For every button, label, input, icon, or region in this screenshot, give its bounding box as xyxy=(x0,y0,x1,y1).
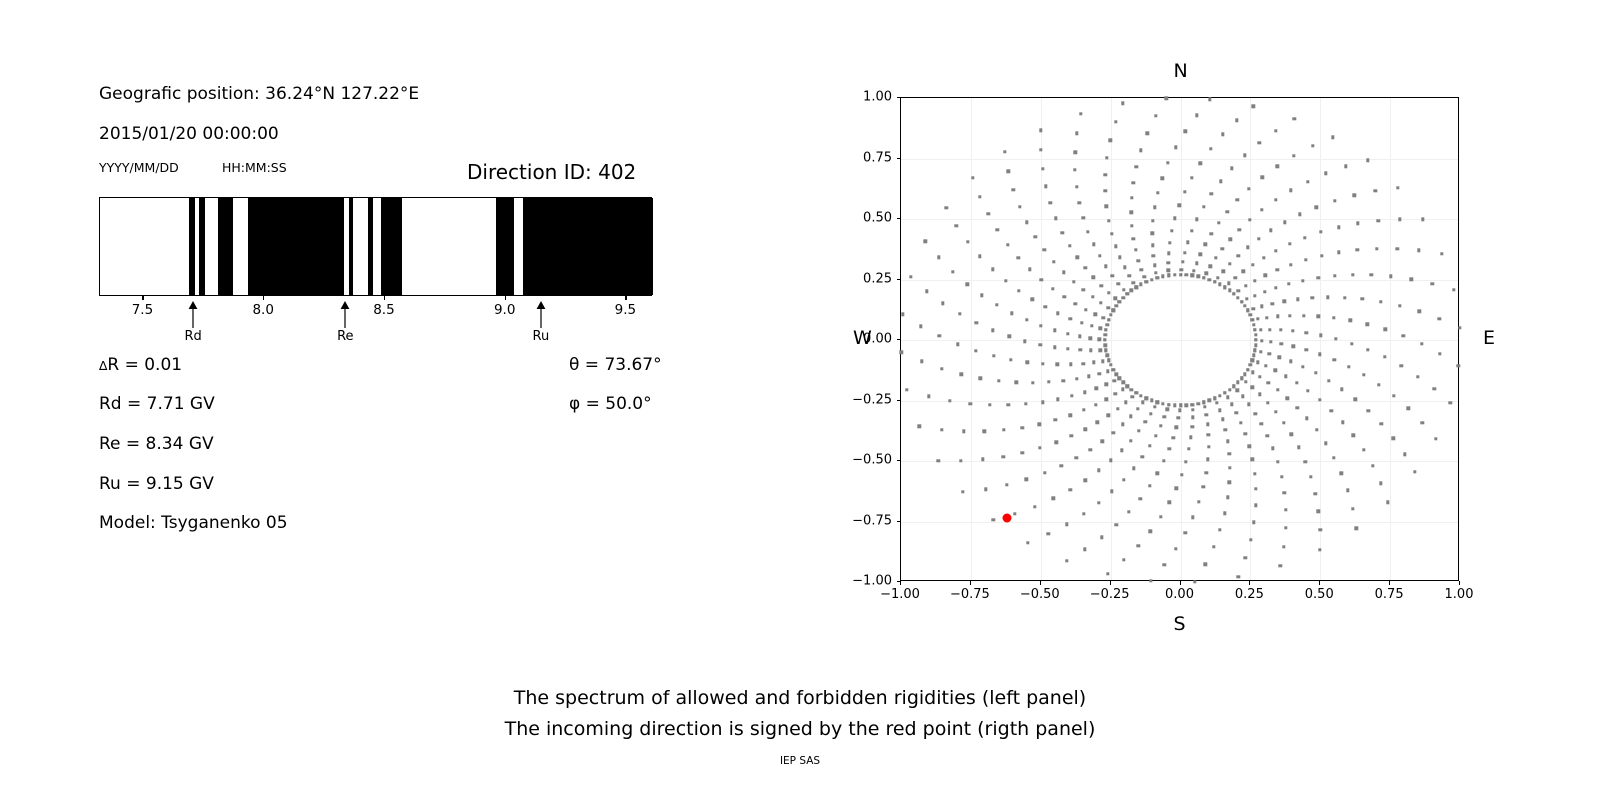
direction-point xyxy=(1163,415,1166,418)
direction-point xyxy=(1153,263,1156,266)
x-axis-tick-label: −0.50 xyxy=(1020,587,1060,602)
direction-point xyxy=(1303,236,1306,239)
direction-point xyxy=(1101,439,1104,442)
direction-point xyxy=(1156,191,1159,194)
direction-point xyxy=(983,430,986,433)
direction-point xyxy=(992,518,995,521)
gridline-horizontal xyxy=(901,461,1458,462)
direction-point xyxy=(1290,433,1293,436)
direction-point xyxy=(1043,248,1046,251)
direction-point xyxy=(1151,219,1154,222)
direction-point xyxy=(1254,333,1257,336)
direction-point xyxy=(1170,229,1173,232)
direction-point xyxy=(1306,389,1309,392)
direction-point xyxy=(1184,460,1187,463)
direction-point xyxy=(1120,449,1123,452)
direction-point xyxy=(1203,405,1206,408)
direction-point xyxy=(1056,312,1059,315)
direction-point xyxy=(1288,314,1291,317)
direction-point xyxy=(1038,343,1041,346)
direction-point xyxy=(1251,318,1254,321)
direction-point xyxy=(1355,248,1358,251)
date-format-hint: YYYY/MM/DD xyxy=(99,160,179,175)
direction-point xyxy=(1434,437,1437,440)
direction-point xyxy=(1240,300,1243,303)
direction-point xyxy=(1330,409,1333,412)
direction-point xyxy=(1144,420,1147,423)
direction-point xyxy=(971,176,974,179)
direction-point xyxy=(1167,269,1170,272)
direction-point xyxy=(1130,388,1133,391)
axis-tick-label: 8.5 xyxy=(373,302,394,318)
direction-point xyxy=(1040,278,1043,281)
direction-point xyxy=(1025,318,1028,321)
direction-point xyxy=(1104,343,1107,346)
direction-point xyxy=(1191,274,1194,277)
gridline-vertical xyxy=(1111,98,1112,580)
forbidden-band xyxy=(248,198,344,295)
direction-point xyxy=(1149,579,1152,582)
direction-point xyxy=(1179,404,1182,407)
direction-point xyxy=(1292,154,1295,157)
direction-point xyxy=(1082,288,1085,291)
direction-point xyxy=(1134,248,1137,251)
sky-direction-panel: −1.00−0.75−0.50−0.250.000.250.500.751.00… xyxy=(840,50,1540,650)
direction-point xyxy=(1304,258,1307,261)
forbidden-band xyxy=(523,198,653,295)
direction-point xyxy=(1207,433,1210,436)
direction-point xyxy=(1008,335,1011,338)
direction-point xyxy=(1191,403,1194,406)
direction-point xyxy=(1025,478,1028,481)
direction-point xyxy=(1239,421,1242,424)
direction-point xyxy=(1110,232,1113,235)
direction-point xyxy=(1124,400,1127,403)
direction-point xyxy=(1125,384,1128,387)
direction-point xyxy=(1226,396,1229,399)
direction-point xyxy=(1349,319,1352,322)
direction-point xyxy=(1066,347,1069,350)
direction-point xyxy=(1218,528,1221,531)
direction-point xyxy=(1099,327,1102,330)
direction-point xyxy=(1208,98,1211,101)
direction-point xyxy=(1191,416,1194,419)
direction-point xyxy=(1314,371,1317,374)
direction-point xyxy=(1392,394,1395,397)
axis-tick xyxy=(505,296,506,300)
direction-point xyxy=(1007,403,1010,406)
direction-point xyxy=(1292,345,1295,348)
direction-point xyxy=(1109,139,1112,142)
direction-point xyxy=(1179,268,1182,271)
direction-point xyxy=(1398,217,1401,220)
direction-point xyxy=(1418,310,1421,313)
direction-point xyxy=(1209,265,1212,268)
direction-point xyxy=(1113,379,1116,382)
direction-point xyxy=(1377,383,1380,386)
marker-rd: Rd xyxy=(163,300,223,344)
delta-r-text: R = 0.01 xyxy=(107,355,182,375)
direction-point xyxy=(1276,165,1279,168)
direction-point xyxy=(1351,273,1354,276)
direction-point xyxy=(1243,154,1246,157)
direction-point xyxy=(1107,318,1110,321)
direction-point xyxy=(1333,274,1336,277)
direction-point xyxy=(1241,270,1244,273)
direction-point xyxy=(1118,377,1121,380)
direction-point xyxy=(1261,176,1264,179)
direction-point xyxy=(1218,394,1221,397)
gridline-horizontal xyxy=(901,340,1458,341)
direction-point xyxy=(1212,545,1215,548)
direction-point xyxy=(1146,131,1149,134)
y-axis-tick-label: 0.75 xyxy=(848,150,892,165)
direction-point xyxy=(1246,246,1249,249)
direction-point xyxy=(1410,278,1413,281)
direction-point xyxy=(920,360,923,363)
direction-point xyxy=(1044,185,1047,188)
direction-point xyxy=(927,395,930,398)
direction-point xyxy=(1090,324,1093,327)
direction-point xyxy=(1107,306,1110,309)
rd-value: Rd = 7.71 GV xyxy=(99,394,215,414)
direction-point xyxy=(1280,342,1283,345)
direction-point xyxy=(1367,409,1370,412)
direction-point xyxy=(1361,297,1364,300)
direction-point xyxy=(1221,418,1224,421)
x-axis-tick xyxy=(1459,581,1460,585)
direction-point xyxy=(1131,395,1134,398)
direction-point xyxy=(1433,387,1436,390)
direction-point xyxy=(1222,270,1225,273)
direction-point xyxy=(941,302,944,305)
direction-point xyxy=(1204,562,1207,565)
forbidden-band xyxy=(218,198,233,295)
direction-point xyxy=(1066,332,1069,335)
direction-point xyxy=(1195,218,1198,221)
direction-point xyxy=(1259,350,1262,353)
direction-point xyxy=(1241,395,1244,398)
direction-point xyxy=(1149,412,1152,415)
direction-point xyxy=(1096,421,1099,424)
direction-point xyxy=(1092,243,1095,246)
direction-point xyxy=(1259,328,1262,331)
direction-point xyxy=(1213,280,1216,283)
direction-point xyxy=(1104,397,1107,400)
direction-point xyxy=(1150,278,1153,281)
direction-point xyxy=(1235,118,1238,121)
direction-point xyxy=(1054,418,1057,421)
direction-point xyxy=(1112,368,1115,371)
direction-point xyxy=(1249,363,1252,366)
direction-point xyxy=(1140,268,1143,271)
x-axis-tick xyxy=(900,581,901,585)
direction-point xyxy=(1167,447,1170,450)
direction-point xyxy=(1017,256,1020,259)
direction-point xyxy=(1104,328,1107,331)
direction-point xyxy=(979,377,982,380)
direction-point xyxy=(1145,397,1148,400)
direction-point xyxy=(900,351,903,354)
direction-point xyxy=(1105,383,1108,386)
direction-point xyxy=(1153,205,1156,208)
direction-point xyxy=(1449,401,1452,404)
direction-point xyxy=(1253,349,1256,352)
direction-point xyxy=(1251,358,1254,361)
direction-point xyxy=(1167,261,1170,264)
direction-point xyxy=(1075,185,1078,188)
direction-point xyxy=(1139,283,1142,286)
direction-point xyxy=(1251,371,1254,374)
direction-point xyxy=(1047,380,1050,383)
direction-point xyxy=(1196,402,1199,405)
forbidden-band xyxy=(496,198,514,295)
direction-point xyxy=(1137,259,1140,262)
direction-point xyxy=(1209,147,1212,150)
direction-point xyxy=(1125,292,1128,295)
direction-point xyxy=(1236,388,1239,391)
direction-point xyxy=(1102,316,1105,319)
direction-point xyxy=(1100,284,1103,287)
marker-ru: Ru xyxy=(511,300,571,344)
direction-point xyxy=(1103,338,1106,341)
direction-point xyxy=(1007,170,1010,173)
direction-point xyxy=(1075,132,1078,135)
direction-point xyxy=(1244,432,1247,435)
direction-point xyxy=(1258,393,1261,396)
direction-point xyxy=(966,240,969,243)
y-axis-tick-label: −0.25 xyxy=(848,392,892,407)
direction-point xyxy=(1018,205,1021,208)
direction-point xyxy=(1280,475,1283,478)
direction-point xyxy=(1251,307,1254,310)
direction-point xyxy=(1161,402,1164,405)
direction-point xyxy=(1041,167,1044,170)
direction-point xyxy=(1317,276,1320,279)
direction-point xyxy=(1256,361,1259,364)
direction-point xyxy=(1320,254,1323,257)
marker-re: Re xyxy=(315,300,375,344)
direction-point xyxy=(1152,254,1155,257)
direction-point xyxy=(1370,273,1373,276)
x-axis-tick-label: 0.75 xyxy=(1375,587,1404,602)
direction-point xyxy=(1205,272,1208,275)
direction-point xyxy=(1243,304,1246,307)
direction-point xyxy=(1061,231,1064,234)
direction-point xyxy=(1351,507,1354,510)
direction-point xyxy=(1044,305,1047,308)
rigidity-spectrum-bar xyxy=(99,197,652,296)
direction-point xyxy=(1141,401,1144,404)
direction-point xyxy=(1079,348,1082,351)
direction-point xyxy=(1246,309,1249,312)
direction-point xyxy=(1100,536,1103,539)
direction-point xyxy=(1121,296,1124,299)
direction-point xyxy=(962,430,965,433)
y-axis-tick-label: −0.50 xyxy=(848,453,892,468)
spectrum-bar-container xyxy=(99,197,652,296)
direction-point xyxy=(1318,353,1321,356)
datetime-label: 2015/01/20 00:00:00 xyxy=(99,124,279,144)
direction-point xyxy=(1163,563,1166,566)
marker-label: Rd xyxy=(163,329,223,344)
direction-point xyxy=(1337,251,1340,254)
direction-point xyxy=(1065,559,1068,562)
direction-point xyxy=(1183,190,1186,193)
direction-point xyxy=(940,367,943,370)
direction-point xyxy=(1236,296,1239,299)
direction-point xyxy=(1084,308,1087,311)
direction-point xyxy=(1195,261,1198,264)
direction-point xyxy=(1248,218,1251,221)
direction-point xyxy=(1116,407,1119,410)
direction-point xyxy=(1098,349,1101,352)
direction-point xyxy=(965,283,968,286)
y-axis-tick xyxy=(897,460,901,461)
direction-point xyxy=(1110,490,1113,493)
direction-point xyxy=(1053,346,1056,349)
direction-point xyxy=(1121,422,1124,425)
direction-point xyxy=(1075,456,1078,459)
direction-point xyxy=(1069,363,1072,366)
y-axis-tick xyxy=(897,339,901,340)
direction-point xyxy=(1366,348,1369,351)
direction-point xyxy=(1374,189,1377,192)
direction-point xyxy=(1159,515,1162,518)
direction-point xyxy=(1289,189,1292,192)
forbidden-band xyxy=(368,198,373,295)
direction-point xyxy=(1183,251,1186,254)
x-axis-tick xyxy=(1110,581,1111,585)
direction-point xyxy=(1276,388,1279,391)
direction-point xyxy=(1139,148,1142,151)
direction-point xyxy=(1174,547,1177,550)
direction-point xyxy=(1137,544,1140,547)
gridline-horizontal xyxy=(901,219,1458,220)
theta-value: θ = 73.67° xyxy=(569,355,662,375)
x-axis-tick-label: −0.25 xyxy=(1090,587,1130,602)
time-format-hint: HH:MM:SS xyxy=(222,160,287,175)
marker-label: Re xyxy=(315,329,375,344)
direction-point xyxy=(1122,478,1125,481)
y-axis-tick xyxy=(897,521,901,522)
direction-point xyxy=(1224,428,1227,431)
direction-point xyxy=(1227,282,1230,285)
direction-point xyxy=(1173,403,1176,406)
direction-point xyxy=(1293,117,1296,120)
direction-point xyxy=(1028,268,1031,271)
rigidity-spectrum-panel: Geografic position: 36.24°N 127.22°E 201… xyxy=(0,0,760,680)
direction-point xyxy=(1104,189,1107,192)
direction-point xyxy=(1025,361,1028,364)
direction-point xyxy=(1168,241,1171,244)
direction-point xyxy=(1107,219,1110,222)
direction-point xyxy=(1201,485,1204,488)
direction-point xyxy=(1319,334,1322,337)
direction-point xyxy=(1421,421,1424,424)
direction-point xyxy=(995,303,998,306)
gridline-horizontal xyxy=(901,280,1458,281)
direction-point xyxy=(1383,328,1386,331)
direction-point xyxy=(1005,483,1008,486)
compass-label-west: W xyxy=(853,327,872,349)
direction-point xyxy=(1039,129,1042,132)
direction-point xyxy=(1265,316,1268,319)
direction-point xyxy=(1274,249,1277,252)
direction-point xyxy=(1174,145,1177,148)
x-axis-tick-label: −0.75 xyxy=(950,587,990,602)
axis-tick-label: 8.0 xyxy=(252,302,273,318)
direction-point xyxy=(1068,244,1071,247)
direction-point xyxy=(1210,232,1213,235)
phi-value: φ = 50.0° xyxy=(569,394,652,414)
direction-point xyxy=(1164,97,1167,100)
direction-point xyxy=(1302,314,1305,317)
direction-point xyxy=(1180,473,1183,476)
direction-point xyxy=(1185,273,1188,276)
direction-point xyxy=(1301,365,1304,368)
direction-point xyxy=(1237,575,1240,578)
direction-point xyxy=(1134,285,1137,288)
direction-point xyxy=(1098,254,1101,257)
direction-point xyxy=(1266,401,1269,404)
axis-tick xyxy=(142,296,143,300)
direction-point xyxy=(1118,300,1121,303)
direction-point xyxy=(1252,354,1255,357)
direction-point xyxy=(1065,522,1068,525)
direction-point xyxy=(1175,487,1178,490)
direction-point xyxy=(1396,247,1399,250)
x-axis-tick xyxy=(1319,581,1320,585)
x-axis-tick-label: −1.00 xyxy=(880,587,920,602)
direction-point xyxy=(1286,396,1289,399)
direction-point xyxy=(1421,218,1424,221)
direction-point xyxy=(1247,187,1250,190)
direction-point xyxy=(1106,370,1109,373)
direction-point xyxy=(1236,381,1239,384)
direction-point xyxy=(1070,434,1073,437)
direction-point xyxy=(1145,280,1148,283)
direction-point xyxy=(1396,186,1399,189)
direction-point xyxy=(1215,401,1218,404)
direction-point xyxy=(1230,403,1233,406)
direction-point xyxy=(1122,558,1125,561)
direction-point xyxy=(1344,165,1347,168)
direction-point xyxy=(1039,148,1042,151)
direction-point xyxy=(1218,283,1221,286)
direction-point xyxy=(901,313,904,316)
direction-point xyxy=(1026,541,1029,544)
direction-point xyxy=(1104,173,1107,176)
direction-point xyxy=(1105,323,1108,326)
direction-point xyxy=(1073,168,1076,171)
caption-line-1: The spectrum of allowed and forbidden ri… xyxy=(0,687,1600,709)
direction-point xyxy=(1333,199,1336,202)
direction-point xyxy=(925,289,928,292)
direction-point xyxy=(1095,387,1098,390)
direction-point xyxy=(1116,282,1119,285)
direction-point xyxy=(1289,263,1292,266)
direction-point xyxy=(1195,114,1198,117)
direction-point xyxy=(1160,176,1163,179)
direction-point xyxy=(1353,193,1356,196)
direction-point xyxy=(1269,229,1272,232)
direction-point xyxy=(1253,294,1256,297)
forbidden-band xyxy=(349,198,353,295)
direction-point xyxy=(1457,364,1460,367)
direction-point xyxy=(1009,358,1012,361)
direction-point xyxy=(1054,217,1057,220)
